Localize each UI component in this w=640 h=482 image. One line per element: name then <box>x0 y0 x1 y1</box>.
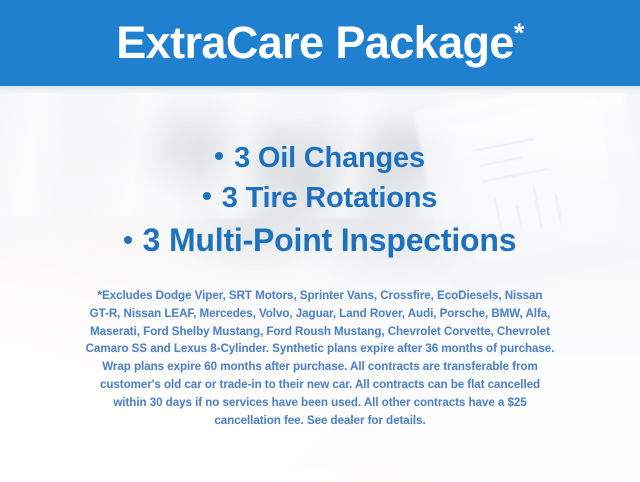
bullet-dot-icon <box>203 192 211 200</box>
extracare-package-promo-card: ExtraCare Package* 3 Oil Changes 3 Tire … <box>0 0 640 482</box>
list-item-label: 3 Oil Changes <box>234 142 425 174</box>
bullet-dot-icon <box>124 236 132 244</box>
list-item: 3 Oil Changes <box>0 138 640 178</box>
list-item: 3 Tire Rotations <box>0 178 640 218</box>
page-title: ExtraCare Package* <box>116 20 524 65</box>
page-title-text: ExtraCare Package <box>116 17 514 68</box>
disclaimer-line: GT-R, Nissan LEAF, Mercedes, Volvo, Jagu… <box>26 305 614 323</box>
disclaimer-line: customer's old car or trade-in to their … <box>26 376 614 394</box>
list-item-label: 3 Tire Rotations <box>222 182 437 214</box>
disclaimer-line: cancellation fee. See dealer for details… <box>26 412 614 430</box>
disclaimer-line: Wrap plans expire 60 months after purcha… <box>26 358 614 376</box>
list-item: 3 Multi-Point Inspections <box>0 218 640 262</box>
disclaimer-line: Maserati, Ford Shelby Mustang, Ford Rous… <box>26 323 614 341</box>
disclaimer-line: within 30 days if no services have been … <box>26 394 614 412</box>
disclaimer-line: Camaro SS and Lexus 8-Cylinder. Syntheti… <box>26 340 614 358</box>
benefits-list: 3 Oil Changes 3 Tire Rotations 3 Multi-P… <box>0 138 640 262</box>
disclaimer-text: *Excludes Dodge Viper, SRT Motors, Sprin… <box>26 287 614 429</box>
page-title-asterisk: * <box>514 18 524 48</box>
bullet-dot-icon <box>215 152 223 160</box>
disclaimer-line: *Excludes Dodge Viper, SRT Motors, Sprin… <box>26 287 614 305</box>
list-item-label: 3 Multi-Point Inspections <box>143 222 517 258</box>
header-band: ExtraCare Package* <box>0 0 640 86</box>
header-divider-strip <box>0 86 640 93</box>
